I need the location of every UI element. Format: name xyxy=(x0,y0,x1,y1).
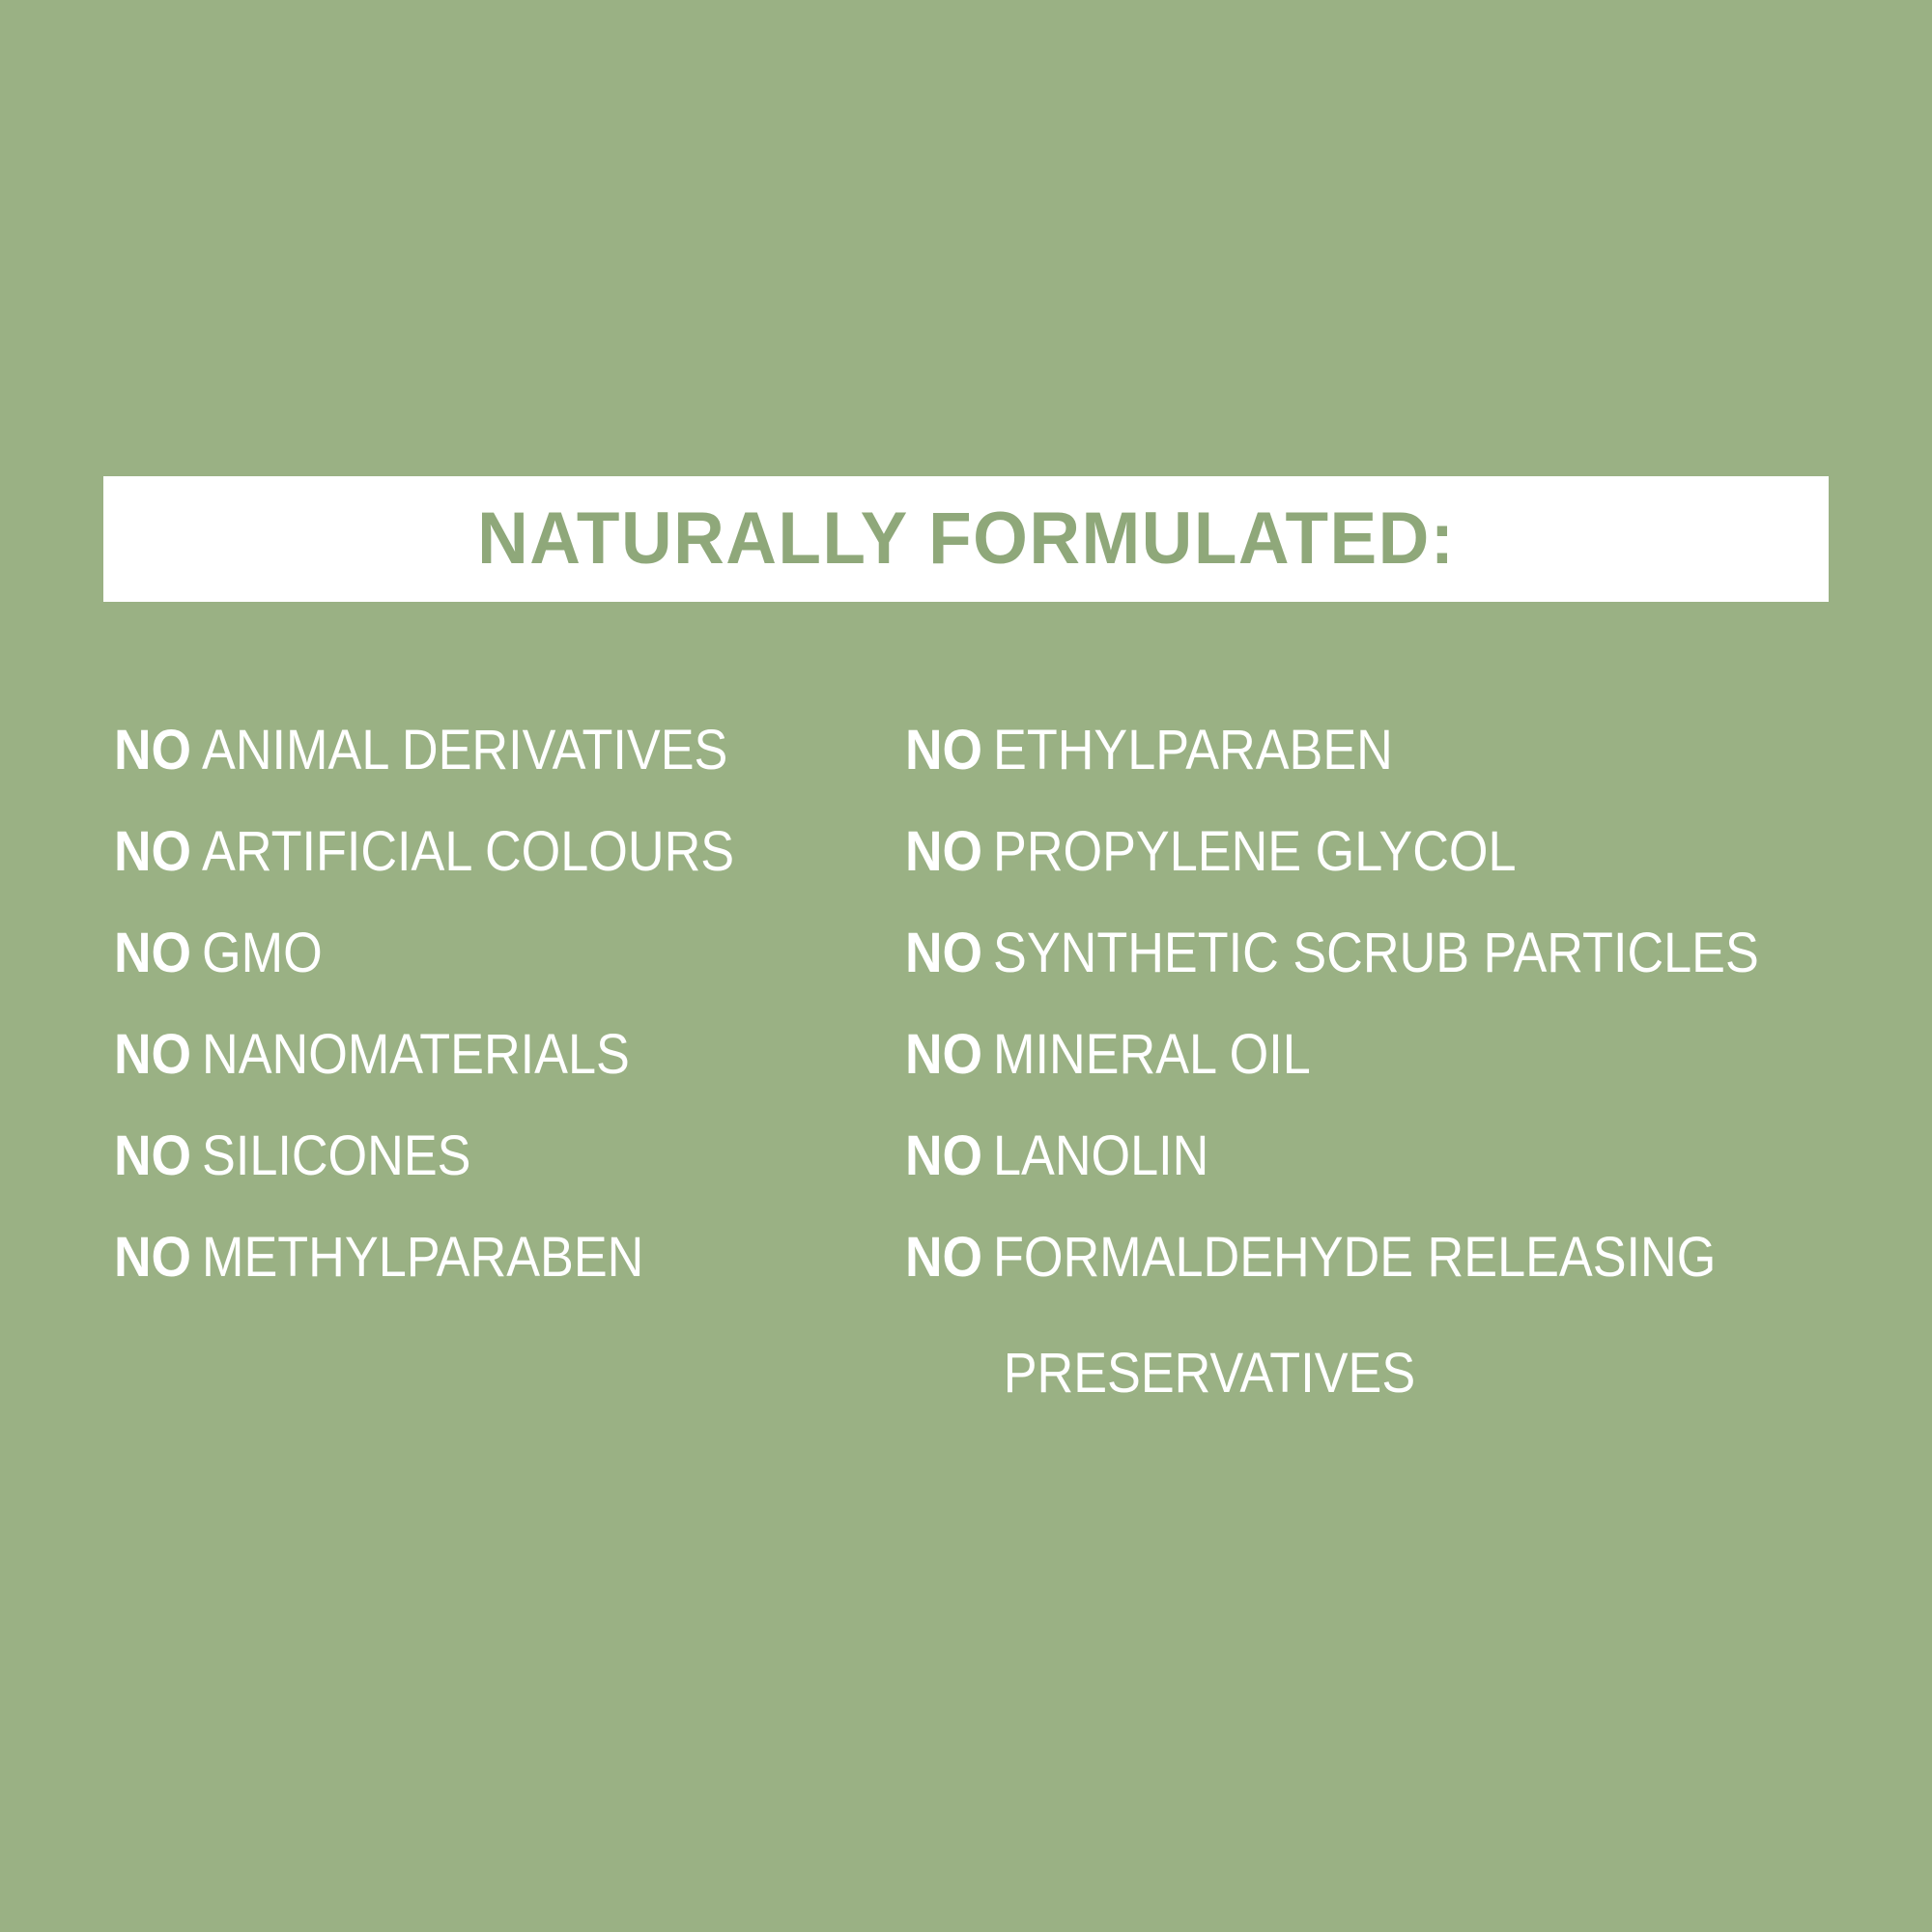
claim-label: ETHYLPARABEN xyxy=(993,699,1393,801)
claim-prefix: NO xyxy=(905,902,982,1004)
claim-item: NOMETHYLPARABEN xyxy=(114,1207,887,1308)
claim-item: NOSYNTHETIC SCRUB PARTICLES xyxy=(905,902,1881,1004)
claim-prefix: NO xyxy=(114,1207,191,1308)
claim-label: FORMALDEHYDE RELEASING xyxy=(993,1207,1716,1308)
claim-label: SYNTHETIC SCRUB PARTICLES xyxy=(993,902,1759,1004)
claim-label: METHYLPARABEN xyxy=(202,1207,643,1308)
claim-prefix: NO xyxy=(905,699,982,801)
claim-item: NOANIMAL DERIVATIVES xyxy=(114,699,887,801)
naturally-formulated-poster: NATURALLY FORMULATED: NOANIMAL DERIVATIV… xyxy=(0,0,1932,1932)
claim-prefix: NO xyxy=(905,801,982,902)
claim-prefix: NO xyxy=(114,1004,191,1105)
claims-list: NOANIMAL DERIVATIVES NOARTIFICIAL COLOUR… xyxy=(0,699,1932,1376)
claim-item: NOGMO xyxy=(114,902,887,1004)
claim-item: NOLANOLIN xyxy=(905,1105,1881,1207)
claim-label: ANIMAL DERIVATIVES xyxy=(202,699,727,801)
claim-item: NONANOMATERIALS xyxy=(114,1004,887,1105)
heading-banner: NATURALLY FORMULATED: xyxy=(103,476,1829,602)
claim-prefix: NO xyxy=(905,1004,982,1105)
claim-prefix: NO xyxy=(114,699,191,801)
claim-item: NOPROPYLENE GLYCOL xyxy=(905,801,1881,902)
claim-label: LANOLIN xyxy=(993,1105,1208,1207)
claim-prefix: NO xyxy=(905,1105,982,1207)
claim-item: NOSILICONES xyxy=(114,1105,887,1207)
claim-item: NOFORMALDEHYDE RELEASING PRESERVATIVES xyxy=(905,1207,1881,1409)
claim-prefix: NO xyxy=(114,1105,191,1207)
claims-column-left: NOANIMAL DERIVATIVES NOARTIFICIAL COLOUR… xyxy=(114,699,887,1308)
claim-prefix: NO xyxy=(905,1207,982,1308)
claim-item: NOARTIFICIAL COLOURS xyxy=(114,801,887,902)
claim-prefix: NO xyxy=(114,801,191,902)
claim-item: NOMINERAL OIL xyxy=(905,1004,1881,1105)
claims-column-right: NOETHYLPARABEN NOPROPYLENE GLYCOL NOSYNT… xyxy=(905,699,1881,1409)
claim-label: MINERAL OIL xyxy=(993,1004,1311,1105)
claim-label: ARTIFICIAL COLOURS xyxy=(202,801,734,902)
claim-label: GMO xyxy=(202,902,323,1004)
claim-label-continuation: PRESERVATIVES xyxy=(905,1322,1783,1424)
page-title: NATURALLY FORMULATED: xyxy=(477,502,1455,576)
claim-item: NOETHYLPARABEN xyxy=(905,699,1881,801)
claim-prefix: NO xyxy=(114,902,191,1004)
claim-label: SILICONES xyxy=(202,1105,470,1207)
claim-label: PROPYLENE GLYCOL xyxy=(993,801,1517,902)
claim-label: NANOMATERIALS xyxy=(202,1004,630,1105)
